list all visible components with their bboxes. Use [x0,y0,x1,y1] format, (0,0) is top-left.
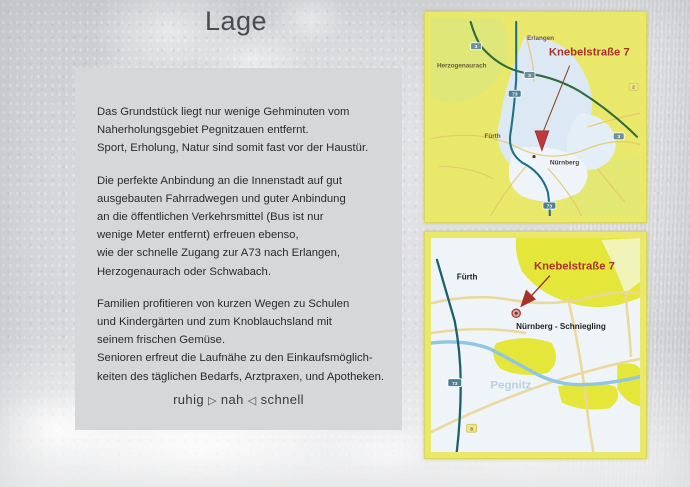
map-local-marker [512,309,520,317]
triangle-left-icon: ◁ [244,395,261,407]
tagline: ruhig▷nah◁schnell [75,392,402,407]
map-label-fuerth: Fürth [484,133,500,140]
svg-text:3: 3 [617,134,620,140]
svg-text:73: 73 [547,203,553,209]
map-local-detail[interactable]: 73 8 Fürth Nürnberg - Schniegling Pegnit… [424,231,647,459]
map-local-label-schniegling: Nürnberg - Schniegling [516,322,606,331]
map-location-dot [532,155,535,158]
tagline-word-nah: nah [221,392,244,407]
map-shield-b2-east: 2 [629,83,638,90]
svg-text:8: 8 [470,426,473,432]
svg-text:73: 73 [512,92,518,98]
map-label-herzogenaurach: Herzogenaurach [437,63,487,70]
map-shield-a73-s: 73 [543,202,556,209]
map-region-svg: 3 3 73 3 73 2 Erlangen [431,18,640,216]
map-caption-knebelstrasse: Knebelstraße 7 [549,47,630,59]
map-local-svg: 73 8 Fürth Nürnberg - Schniegling Pegnit… [431,238,640,452]
paragraph-1: Das Grundstück liegt nur wenige Gehminut… [97,103,397,158]
map-local-label-fuerth: Fürth [457,273,478,282]
svg-text:3: 3 [528,73,531,79]
map-label-erlangen: Erlangen [527,35,554,42]
map-local-label-pegnitz: Pegnitz [490,380,531,392]
svg-text:3: 3 [475,44,478,50]
content-panel: Das Grundstück liegt nur wenige Gehminut… [75,68,402,430]
map-local-caption-knebelstrasse: Knebelstraße 7 [534,261,615,273]
tagline-word-schnell: schnell [261,392,304,407]
page-title: Lage [205,6,267,37]
tagline-word-ruhig: ruhig [173,392,204,407]
paragraph-3: Familien profitieren von kurzen Wegen zu… [97,295,397,386]
triangle-right-icon: ▷ [204,395,221,407]
map-shield-a3-mid: 3 [524,71,535,78]
map-shield-a73-mid: 73 [508,90,521,97]
map-local-shield-8: 8 [467,424,477,432]
description-text: Das Grundstück liegt nur wenige Gehminut… [97,103,397,386]
map-region-overview[interactable]: 3 3 73 3 73 2 Erlangen [424,11,647,223]
map-label-nuernberg: Nürnberg [550,160,579,167]
map-region-canvas: 3 3 73 3 73 2 Erlangen [431,18,640,216]
map-local-shield-73: 73 [448,379,462,387]
map-shield-a3-se: 3 [613,133,624,140]
paragraph-2: Die perfekte Anbindung an die Innenstadt… [97,172,397,281]
svg-text:73: 73 [452,381,458,387]
svg-text:2: 2 [632,85,635,91]
map-shield-a3-nw: 3 [471,43,482,50]
map-local-canvas: 73 8 Fürth Nürnberg - Schniegling Pegnit… [431,238,640,452]
